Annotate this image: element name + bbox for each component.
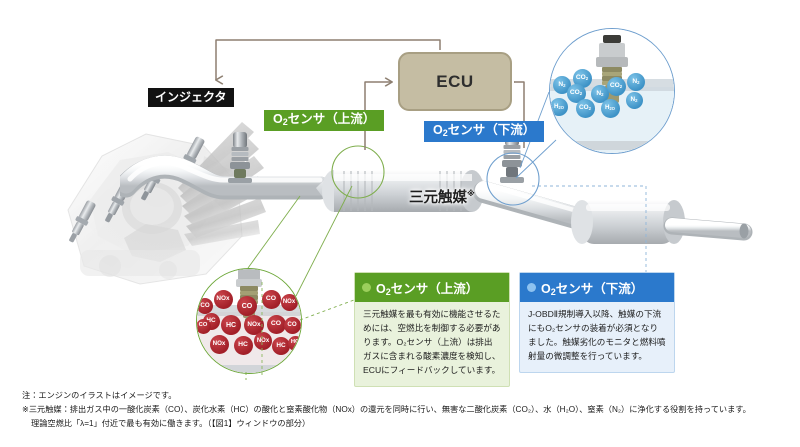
molecule-badge: N2	[626, 92, 643, 109]
molecule-badge: CO	[196, 319, 211, 334]
ecu-box[interactable]: ECU	[398, 52, 512, 111]
label-o2-down-o: O	[433, 123, 443, 137]
molecule-badge: CO	[267, 315, 286, 334]
sensor-dot-icon	[527, 283, 536, 292]
label-injector: インジェクタ	[148, 88, 234, 107]
magnifier-downstream: N2CO2CO2N2CO2N2N2H2OCO2H2O	[549, 28, 675, 154]
molecule-badge: H2O	[601, 99, 620, 118]
footnote-line-3: 理論空燃比「λ=1」付近で最も有効に働きます。（【図1】ウィンドウの部分）	[22, 417, 792, 431]
molecule-badge: HC	[221, 315, 241, 335]
diagram-canvas: NOxCOCONOxCOHCCOHCNOxCOCONOxHCNOxHCHC N2…	[0, 0, 800, 447]
footnote-line-2: ※三元触媒：排出ガス中の一酸化炭素（CO）、炭化水素（HC）の酸化と窒素酸化物（…	[22, 403, 792, 417]
callout-downstream-title: O2センサ（下流）	[541, 278, 643, 297]
molecule-badge: CO	[237, 296, 257, 316]
label-three-way-catalyst: 三元触媒※	[409, 186, 475, 207]
ecu-label: ECU	[436, 72, 473, 92]
molecule-badge: NOx	[281, 294, 298, 311]
callout-upstream-title: O2センサ（上流）	[376, 278, 478, 297]
molecule-field-upstream: NOxCOCONOxCOHCCOHCNOxCOCONOxHCNOxHCHC	[197, 269, 301, 373]
callout-upstream-body: 三元触媒を最も有効に機能させるためには、空燃比を制御する必要があります。O₂セン…	[355, 302, 509, 386]
sensor-dot-icon	[362, 283, 371, 292]
molecule-badge: CO2	[607, 77, 626, 96]
molecule-field-downstream: N2CO2CO2N2CO2N2N2H2OCO2H2O	[550, 29, 674, 153]
footnotes: 注：エンジンのイラストはイメージです。 ※三元触媒：排出ガス中の一酸化炭素（CO…	[22, 389, 792, 431]
callout-upstream-header: O2センサ（上流）	[355, 273, 509, 302]
magnifier-upstream: NOxCOCONOxCOHCCOHCNOxCOCONOxHCNOxHCHC	[196, 268, 302, 374]
label-o2-down-rest: センサ（下流）	[448, 123, 536, 137]
molecule-badge: NOx	[254, 332, 272, 350]
footnote-line-1: 注：エンジンのイラストはイメージです。	[22, 389, 792, 403]
molecule-badge: CO	[284, 317, 301, 334]
label-o2-sensor-downstream: O2センサ（下流）	[424, 121, 544, 142]
molecule-badge: NOx	[214, 290, 233, 309]
molecule-badge: H2O	[550, 98, 568, 116]
molecule-badge: HC	[272, 337, 290, 355]
callout-card-downstream[interactable]: O2センサ（下流） J-OBDⅡ規制導入以降、触媒の下流にもO₂センサの装着が必…	[519, 272, 675, 373]
molecule-badge: NOx	[210, 335, 229, 354]
label-o2-down-2: 2	[443, 128, 448, 138]
molecule-badge: CO	[197, 298, 213, 314]
molecule-badge: N2	[627, 73, 645, 91]
molecule-badge: CO	[262, 290, 281, 309]
label-catalyst-text: 三元触媒	[409, 190, 467, 206]
label-catalyst-mark: ※	[467, 189, 475, 198]
label-o2-up-2: 2	[283, 117, 288, 127]
label-o2-up-rest: センサ（上流）	[288, 112, 376, 126]
callout-downstream-header: O2センサ（下流）	[520, 273, 674, 302]
molecule-badge: HC	[234, 336, 253, 355]
molecule-badge: CO2	[576, 99, 595, 118]
label-o2-up-o: O	[273, 112, 283, 126]
label-o2-sensor-upstream: O2センサ（上流）	[264, 110, 384, 131]
molecule-badge: HC	[288, 336, 303, 351]
callout-card-upstream[interactable]: O2センサ（上流） 三元触媒を最も有効に機能させるためには、空燃比を制御する必要…	[354, 272, 510, 387]
callout-downstream-body: J-OBDⅡ規制導入以降、触媒の下流にもO₂センサの装着が必須となりました。触媒…	[520, 302, 674, 372]
